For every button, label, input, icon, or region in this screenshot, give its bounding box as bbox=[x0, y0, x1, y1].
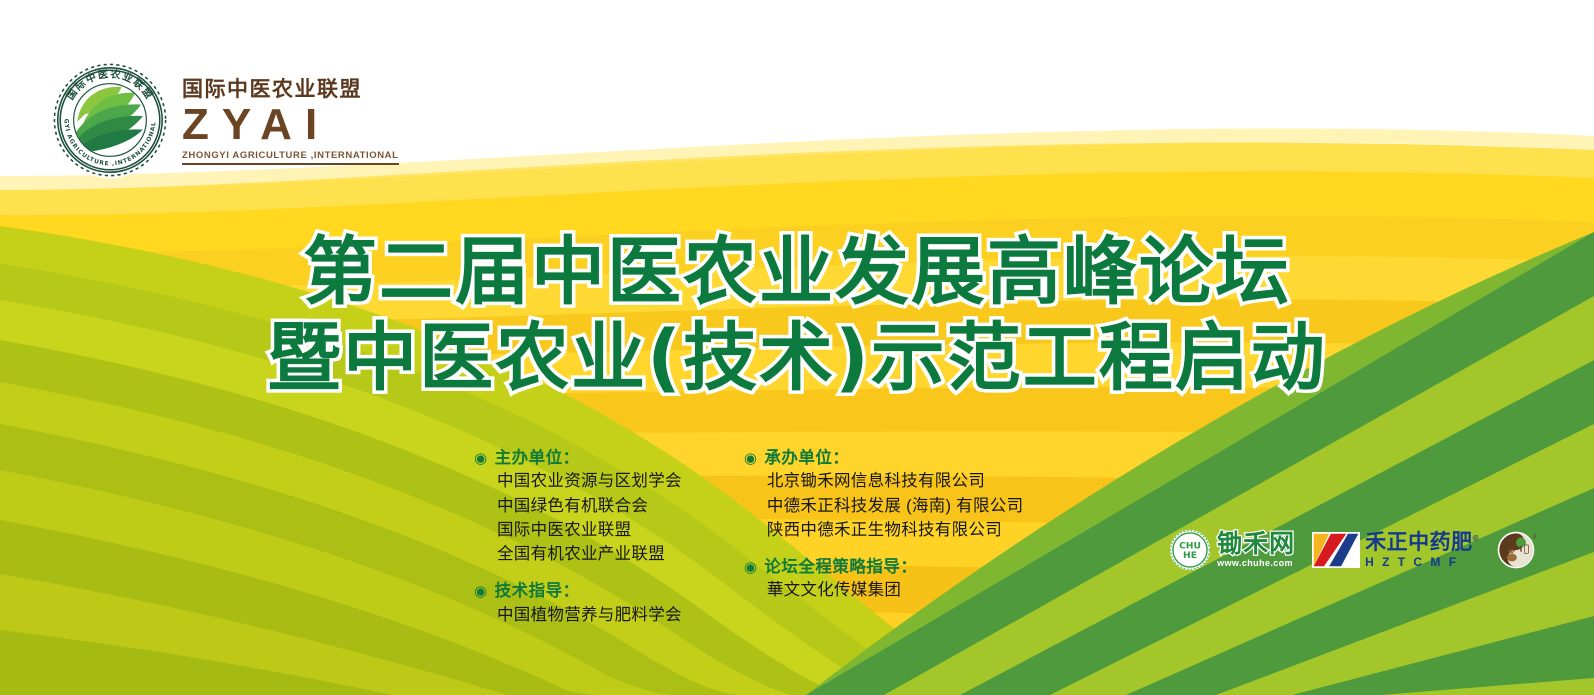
list-item: 中国绿色有机联合会 bbox=[497, 494, 682, 518]
list-item: 中国农业资源与区划学会 bbox=[497, 469, 682, 493]
hztcmf-text: 禾正中药肥® H Z T C M F bbox=[1365, 532, 1479, 568]
list-item: 中德禾正科技发展 (海南) 有限公司 bbox=[767, 494, 1024, 518]
wordmark-chinese: 国际中医农业联盟 bbox=[182, 79, 399, 100]
bullet-icon: ◉ bbox=[474, 451, 488, 466]
chuhe-seal-icon: CHU HE bbox=[1169, 529, 1211, 571]
technical-guidance-heading: ◉ 技术指导： bbox=[474, 580, 682, 602]
organizer-info: ◉ 主办单位： 中国农业资源与区划学会 中国绿色有机联合会 国际中医农业联盟 全… bbox=[474, 447, 1023, 627]
sponsor-logo-tree-seal: ® bbox=[1496, 530, 1536, 570]
host-list: 中国农业资源与区划学会 中国绿色有机联合会 国际中医农业联盟 全国有机农业产业联… bbox=[497, 469, 682, 566]
svg-text:HE: HE bbox=[1183, 550, 1197, 561]
info-group-strategy-advisor: ◉ 论坛全程策略指导： 華文文化传媒集团 bbox=[744, 556, 1024, 603]
list-item: 北京锄禾网信息科技有限公司 bbox=[767, 469, 1024, 493]
bullet-icon: ◉ bbox=[474, 584, 488, 599]
host-heading-label: 主办单位： bbox=[495, 447, 580, 469]
zyai-wordmark: 国际中医农业联盟 ZYAI ZHONGYI AGRICULTURE ,INTER… bbox=[182, 75, 399, 166]
sponsor-logo-row: CHU HE 锄禾网 www.chuhe.com 禾正中药肥® bbox=[1169, 529, 1536, 571]
strategy-advisor-heading-label: 论坛全程策略指导： bbox=[764, 556, 917, 578]
organizer-heading: ◉ 承办单位： bbox=[744, 447, 1024, 469]
info-column-right: ◉ 承办单位： 北京锄禾网信息科技有限公司 中德禾正科技发展 (海南) 有限公司… bbox=[744, 447, 1024, 627]
sponsor-logo-hztcmf: 禾正中药肥® H Z T C M F bbox=[1312, 532, 1479, 568]
z-stripe-icon bbox=[1312, 532, 1360, 568]
technical-guidance-heading-label: 技术指导： bbox=[495, 580, 580, 602]
strategy-advisor-list: 華文文化传媒集团 bbox=[767, 578, 1024, 602]
chuhe-text: 锄禾网 www.chuhe.com bbox=[1217, 532, 1295, 568]
list-item: 全国有机农业产业联盟 bbox=[497, 542, 682, 566]
event-title: 第二届中医农业发展高峰论坛 暨中医农业(技术)示范工程启动 bbox=[0, 234, 1594, 397]
list-item: 華文文化传媒集团 bbox=[767, 578, 1024, 602]
technical-guidance-list: 中国植物营养与肥料学会 bbox=[497, 603, 682, 627]
conference-banner: 国际中医农业联盟 ZHONGYI AGRICULTURE ,INTERNATIO… bbox=[0, 0, 1594, 695]
bullet-icon: ◉ bbox=[744, 451, 758, 466]
organizer-list: 北京锄禾网信息科技有限公司 中德禾正科技发展 (海南) 有限公司 陕西中德禾正生… bbox=[767, 469, 1024, 542]
bullet-icon: ◉ bbox=[744, 560, 758, 575]
list-item: 陕西中德禾正生物科技有限公司 bbox=[767, 518, 1024, 542]
hztcmf-name-cn: 禾正中药肥® bbox=[1365, 532, 1479, 553]
hztcmf-name-en: H Z T C M F bbox=[1365, 556, 1479, 568]
registered-icon: ® bbox=[1473, 534, 1479, 543]
wordmark-english: ZHONGYI AGRICULTURE ,INTERNATIONAL bbox=[182, 151, 399, 166]
registered-mark: ® bbox=[1533, 533, 1536, 540]
host-heading: ◉ 主办单位： bbox=[474, 447, 682, 469]
zyai-logo-lockup: 国际中医农业联盟 ZHONGYI AGRICULTURE ,INTERNATIO… bbox=[52, 62, 399, 178]
chuhe-name-cn: 锄禾网 bbox=[1217, 532, 1295, 557]
info-group-host: ◉ 主办单位： 中国农业资源与区划学会 中国绿色有机联合会 国际中医农业联盟 全… bbox=[474, 447, 682, 566]
wordmark-abbreviation: ZYAI bbox=[182, 103, 399, 147]
zyai-seal-icon: 国际中医农业联盟 ZHONGYI AGRICULTURE ,INTERNATIO… bbox=[52, 62, 168, 178]
title-line-1: 第二届中医农业发展高峰论坛 bbox=[0, 234, 1594, 312]
list-item: 中国植物营养与肥料学会 bbox=[497, 603, 682, 627]
tree-root-roundel-icon: ® bbox=[1496, 530, 1536, 570]
organizer-heading-label: 承办单位： bbox=[764, 447, 849, 469]
strategy-advisor-heading: ◉ 论坛全程策略指导： bbox=[744, 556, 1024, 578]
chuhe-url: www.chuhe.com bbox=[1217, 559, 1295, 568]
list-item: 国际中医农业联盟 bbox=[497, 518, 682, 542]
info-group-technical-guidance: ◉ 技术指导： 中国植物营养与肥料学会 bbox=[474, 580, 682, 627]
info-column-left: ◉ 主办单位： 中国农业资源与区划学会 中国绿色有机联合会 国际中医农业联盟 全… bbox=[474, 447, 682, 627]
info-group-organizer: ◉ 承办单位： 北京锄禾网信息科技有限公司 中德禾正科技发展 (海南) 有限公司… bbox=[744, 447, 1024, 542]
sponsor-logo-chuhe: CHU HE 锄禾网 www.chuhe.com bbox=[1169, 529, 1295, 571]
title-line-2: 暨中医农业(技术)示范工程启动 bbox=[0, 320, 1594, 398]
